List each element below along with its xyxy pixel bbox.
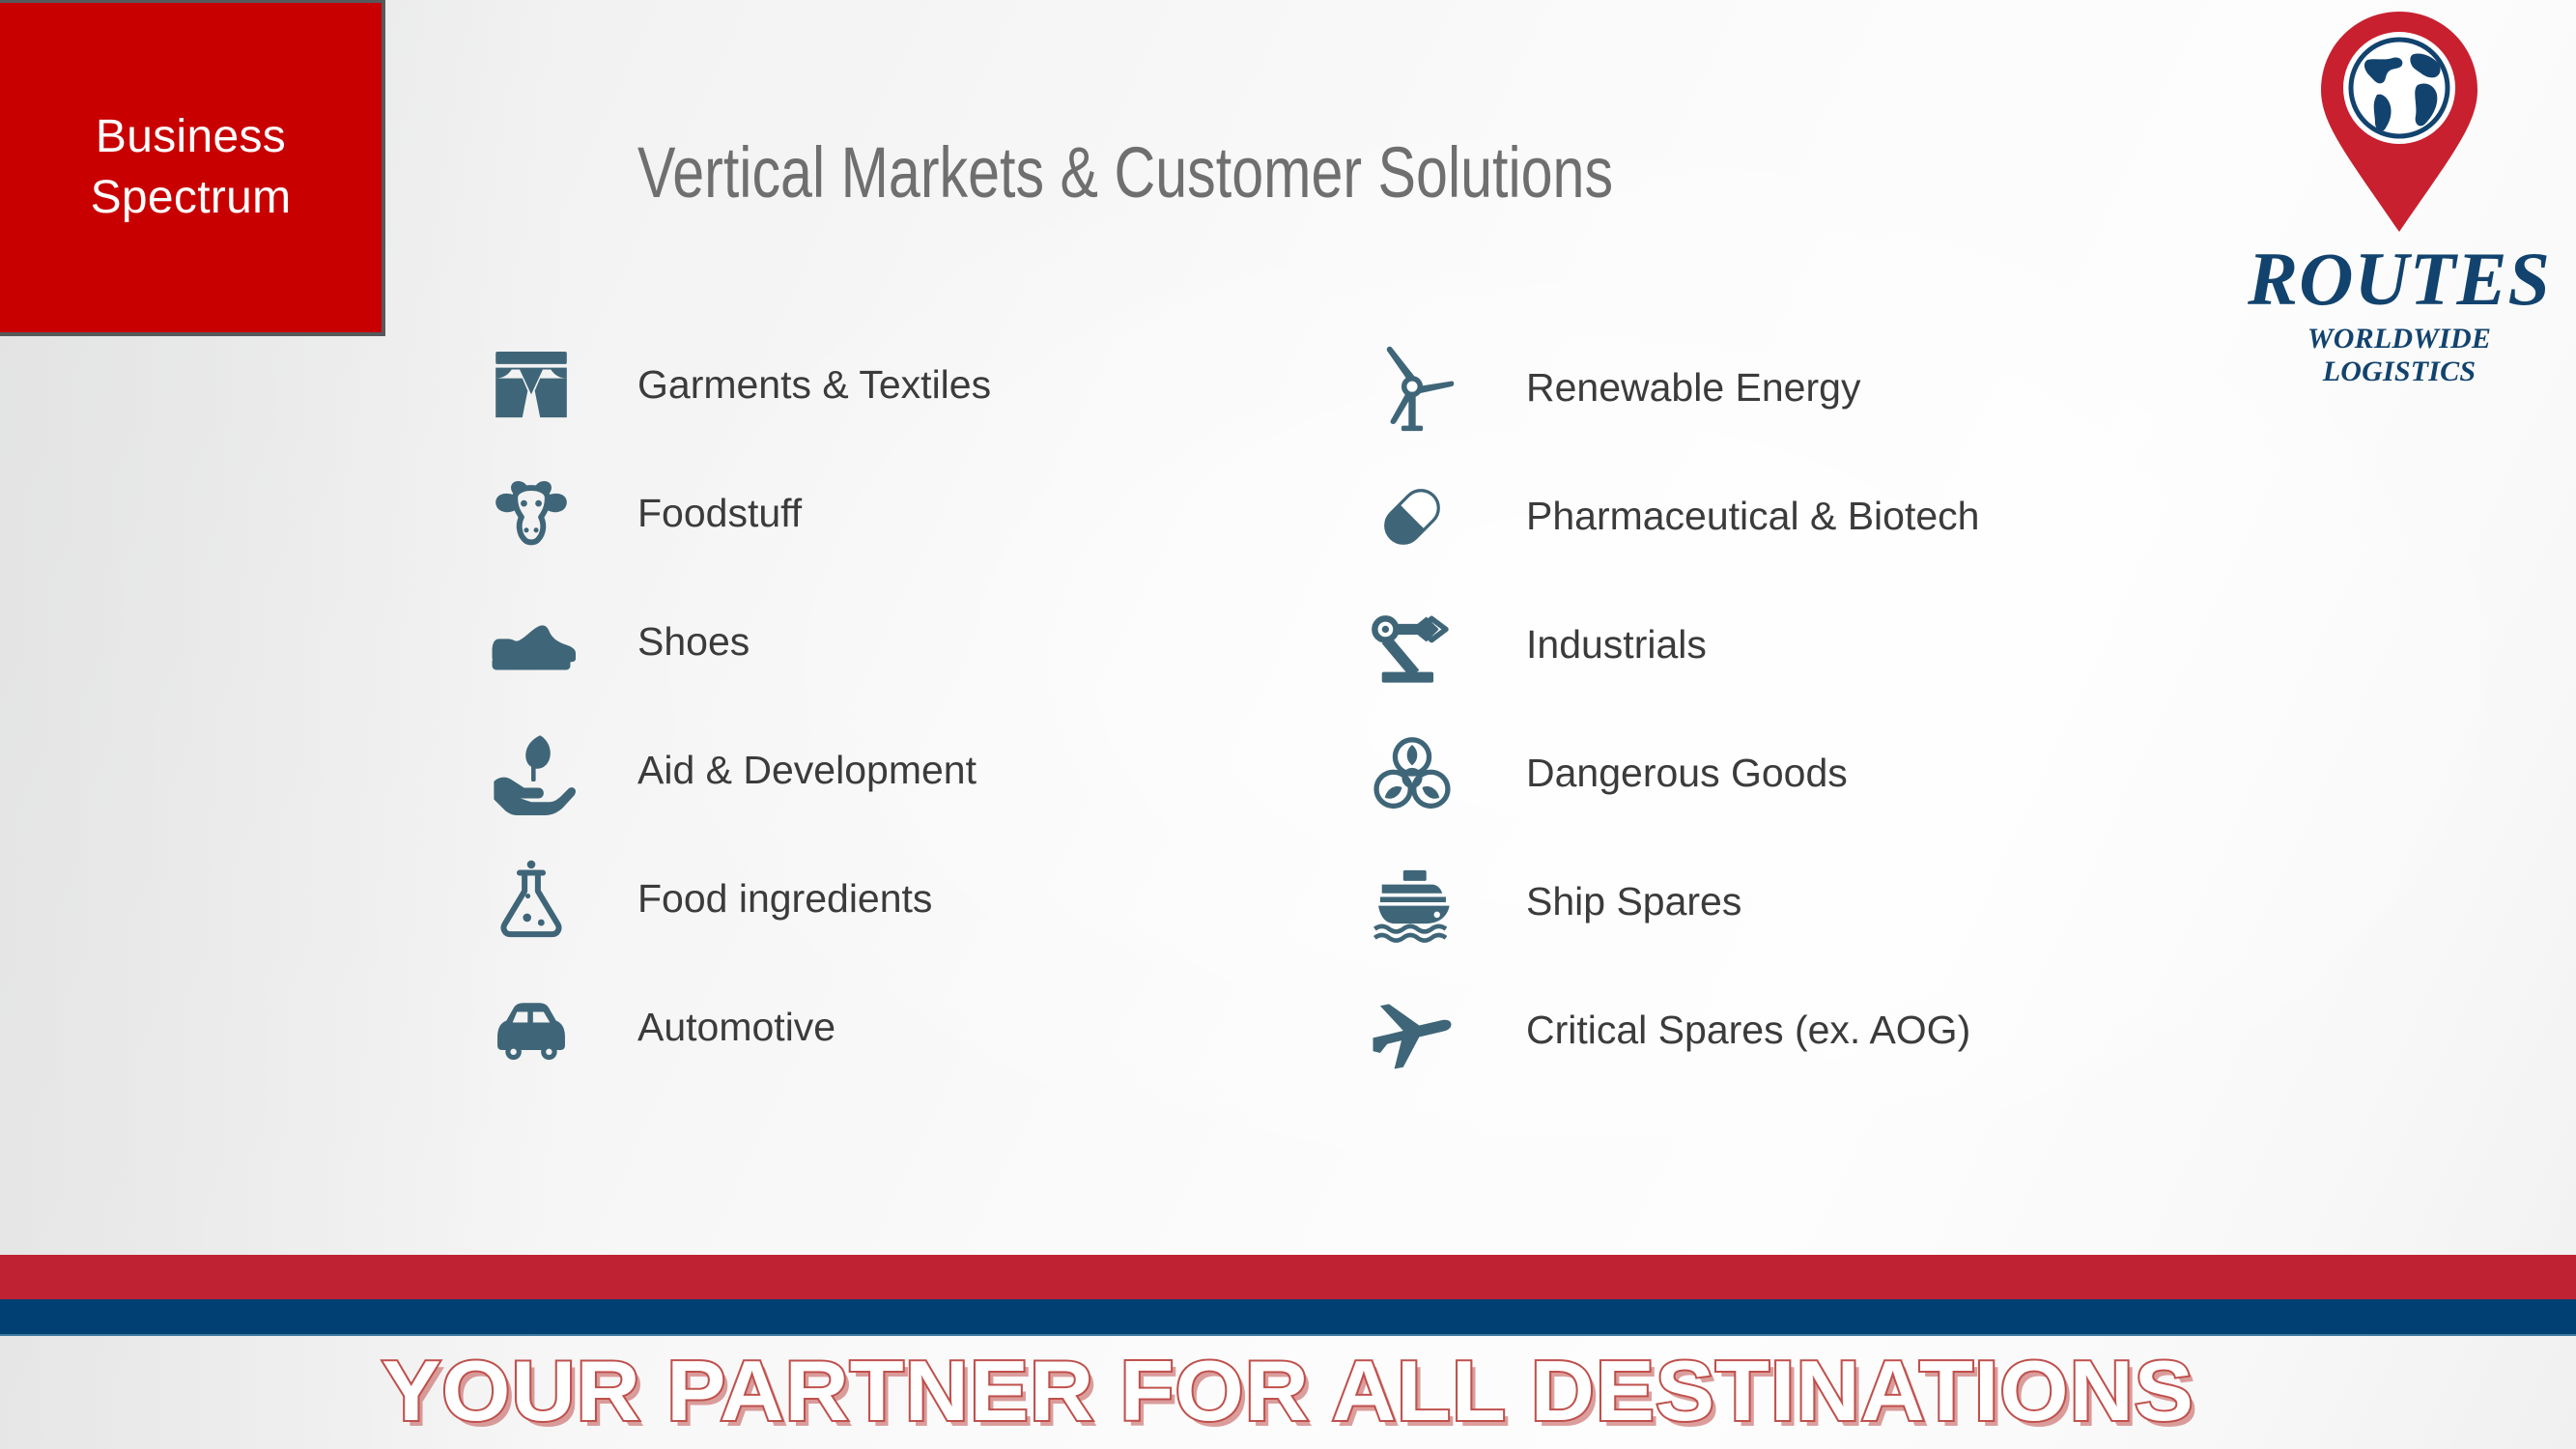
- shoe-icon: [483, 594, 580, 691]
- market-item[interactable]: Renewable Energy: [1364, 324, 1979, 452]
- market-item[interactable]: Garments & Textiles: [483, 321, 991, 449]
- logo-wordmark: ROUTES: [2240, 243, 2559, 315]
- market-label: Critical Spares (ex. AOG): [1526, 1010, 1970, 1050]
- market-item[interactable]: Pharmaceutical & Biotech: [1364, 452, 1979, 581]
- map-pin-globe-icon: [2317, 10, 2481, 234]
- flask-icon: [483, 851, 580, 948]
- ship-icon: [1364, 854, 1460, 951]
- logo-sub-tagline: WORLDWIDE LOGISTICS: [2240, 323, 2559, 388]
- market-label: Food ingredients: [637, 879, 932, 919]
- robot-arm-icon: [1364, 597, 1460, 694]
- market-item[interactable]: Automotive: [483, 963, 991, 1092]
- footer-navy-band: [0, 1299, 2576, 1336]
- market-label: Renewable Energy: [1526, 368, 1860, 408]
- market-item[interactable]: Industrials: [1364, 581, 1979, 709]
- markets-column-left: Garments & Textiles Foodstuff: [483, 321, 991, 1092]
- badge-line-2: Spectrum: [91, 172, 292, 223]
- background-sheen: [0, 0, 2576, 1449]
- market-label: Shoes: [637, 622, 750, 662]
- market-label: Industrials: [1526, 625, 1707, 665]
- market-label: Dangerous Goods: [1526, 753, 1848, 793]
- market-label: Garments & Textiles: [637, 365, 991, 405]
- airplane-icon: [1364, 982, 1460, 1079]
- market-label: Pharmaceutical & Biotech: [1526, 497, 1979, 536]
- cow-head-icon: [483, 466, 580, 562]
- hand-plant-icon: [483, 723, 580, 819]
- routes-logo: ROUTES WORLDWIDE LOGISTICS: [2240, 4, 2559, 381]
- badge-text: Business Spectrum: [91, 107, 292, 228]
- footer-red-band: [0, 1255, 2576, 1299]
- market-item[interactable]: Shoes: [483, 578, 991, 706]
- badge-line-1: Business: [96, 111, 286, 162]
- market-label: Ship Spares: [1526, 882, 1741, 922]
- wind-turbine-icon: [1364, 340, 1460, 437]
- market-item[interactable]: Food ingredients: [483, 835, 991, 963]
- market-label: Automotive: [637, 1008, 835, 1047]
- footer-tagline: YOUR PARTNER FOR ALL DESTINATIONS: [0, 1349, 2576, 1434]
- slide-canvas: Business Spectrum Vertical Markets & Cus…: [0, 0, 2576, 1449]
- market-item[interactable]: Aid & Development: [483, 706, 991, 835]
- business-spectrum-badge: Business Spectrum: [0, 0, 385, 336]
- market-label: Aid & Development: [637, 751, 977, 790]
- biohazard-icon: [1364, 725, 1460, 822]
- market-item[interactable]: Foodstuff: [483, 449, 991, 578]
- markets-column-right: Renewable Energy Pharmaceutical & Biotec…: [1364, 324, 1979, 1094]
- market-item[interactable]: Critical Spares (ex. AOG): [1364, 966, 1979, 1094]
- car-icon: [483, 980, 580, 1076]
- market-item[interactable]: Ship Spares: [1364, 838, 1979, 966]
- pill-capsule-icon: [1364, 469, 1460, 565]
- shorts-icon: [483, 337, 580, 434]
- page-title: Vertical Markets & Customer Solutions: [637, 135, 1657, 211]
- market-label: Foodstuff: [637, 494, 802, 533]
- market-item[interactable]: Dangerous Goods: [1364, 709, 1979, 838]
